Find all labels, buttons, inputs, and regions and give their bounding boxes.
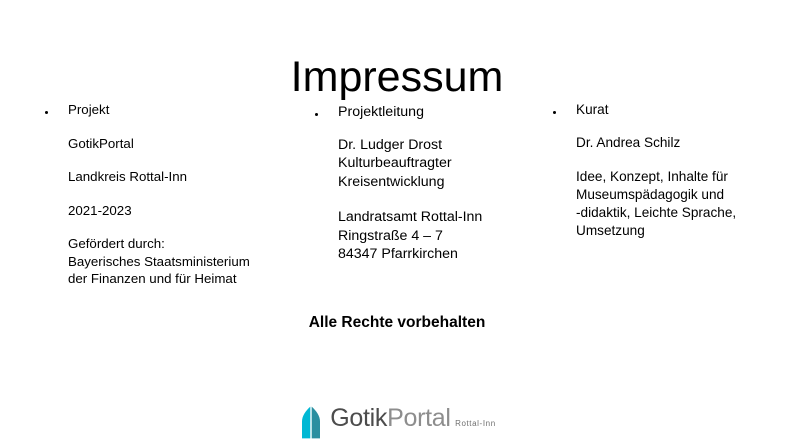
column-text-block: GotikPortal: [40, 135, 305, 153]
logo-name-secondary: Portal: [387, 404, 451, 432]
column-projekt: Projekt GotikPortal Landkreis Rottal-Inn…: [40, 101, 305, 288]
spacer: [310, 192, 550, 208]
column-heading: Projekt: [68, 101, 305, 119]
slide-canvas: Impressum Projekt GotikPortal Landkreis …: [0, 0, 794, 446]
logo-word-line: GotikPortal: [330, 404, 450, 432]
column-text-block: Dr. Andrea Schilz: [548, 134, 783, 152]
spacer: [548, 119, 783, 134]
spacer: [310, 122, 550, 136]
column-heading: Kurat: [576, 101, 783, 119]
footer-logo: GotikPortal Rottal-Inn: [0, 404, 794, 439]
column-projektleitung: Projektleitung Dr. Ludger Drost Kulturbe…: [310, 103, 550, 264]
rights-notice: Alle Rechte vorbehalten: [0, 314, 794, 332]
column-text-block: Idee, Konzept, Inhalte für Museumspädago…: [548, 168, 783, 240]
spacer: [40, 152, 305, 168]
bullet-icon: [553, 111, 556, 114]
column-kurat: Kurat Dr. Andrea Schilz Idee, Konzept, I…: [548, 101, 783, 240]
bullet-item-projekt: Projekt: [40, 101, 305, 119]
column-text-block: 2021-2023: [40, 202, 305, 220]
column-text-block: Gefördert durch: Bayerisches Staatsminis…: [40, 235, 305, 288]
spacer: [40, 219, 305, 235]
spacer: [40, 186, 305, 202]
bullet-icon: [315, 113, 318, 116]
bullet-icon: [45, 111, 48, 114]
logo-lockup: GotikPortal Rottal-Inn: [298, 404, 496, 439]
spacer: [40, 119, 305, 135]
column-text-block: Landratsamt Rottal-Inn Ringstraße 4 – 7 …: [310, 208, 550, 264]
gothic-arch-logo-icon: [298, 406, 324, 439]
logo-wordmark: GotikPortal Rottal-Inn: [330, 405, 496, 431]
column-heading: Projektleitung: [338, 103, 550, 122]
logo-name-primary: Gotik: [330, 404, 387, 432]
bullet-item-kurat: Kurat: [548, 101, 783, 119]
logo-subtitle: Rottal-Inn: [455, 419, 496, 428]
content-columns: Projekt GotikPortal Landkreis Rottal-Inn…: [0, 0, 794, 446]
column-text-block: Landkreis Rottal-Inn: [40, 168, 305, 186]
spacer: [548, 152, 783, 168]
bullet-item-projektleitung: Projektleitung: [310, 103, 550, 122]
column-text-block: Dr. Ludger Drost Kulturbeauftragter Krei…: [310, 136, 550, 192]
